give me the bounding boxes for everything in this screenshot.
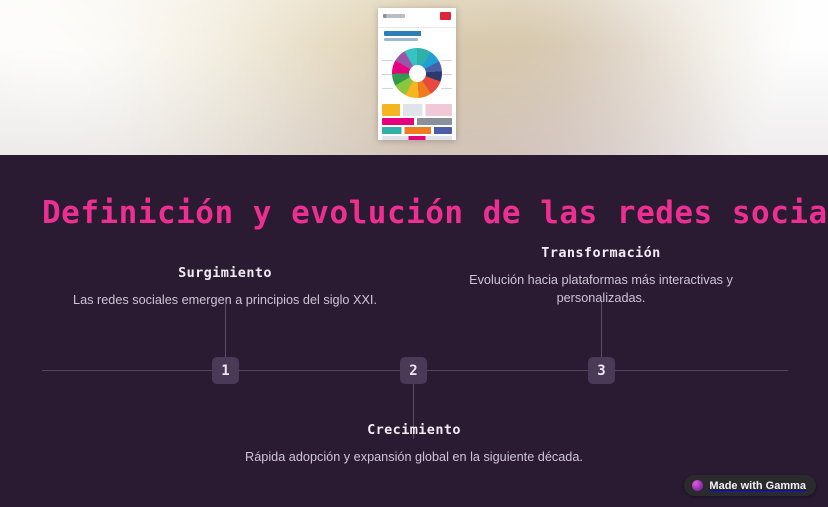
timeline-step-2-text: Crecimiento Rápida adopción y expansión … bbox=[228, 422, 600, 466]
chart-leader-line bbox=[382, 74, 392, 75]
red-badge-icon bbox=[440, 12, 451, 20]
infographic-subtitle-bar bbox=[384, 38, 418, 41]
timeline-step-3-marker[interactable]: 3 bbox=[588, 357, 615, 384]
infographic-stat-row bbox=[382, 136, 452, 140]
timeline-step-3-heading: Transformación bbox=[452, 245, 750, 261]
donut-chart-icon bbox=[392, 48, 442, 98]
page-title: Definición y evolución de las redes soci… bbox=[42, 195, 828, 231]
chart-leader-line bbox=[382, 88, 393, 89]
chart-leader-line bbox=[382, 60, 393, 61]
slide-content: Definición y evolución de las redes soci… bbox=[0, 155, 828, 507]
made-with-gamma-badge[interactable]: Made with Gamma bbox=[684, 475, 816, 496]
infographic-year-band bbox=[382, 104, 452, 116]
timeline-step-2-marker[interactable]: 2 bbox=[400, 357, 427, 384]
infographic-title-bar bbox=[384, 31, 442, 36]
infographic-stat-row bbox=[382, 118, 452, 125]
timeline-step-1-connector bbox=[225, 302, 226, 357]
infographic-stat-row bbox=[382, 127, 452, 134]
timeline-step-3-connector bbox=[601, 302, 602, 357]
timeline-step-2-body: Rápida adopción y expansión global en la… bbox=[228, 448, 600, 466]
timeline-step-1-marker[interactable]: 1 bbox=[212, 357, 239, 384]
social-media-infographic-thumbnail bbox=[378, 8, 456, 140]
timeline-step-1-heading: Surgimiento bbox=[17, 265, 433, 281]
made-with-gamma-label: Made with Gamma bbox=[709, 480, 806, 492]
chart-leader-line bbox=[442, 74, 452, 75]
gamma-logo-icon bbox=[692, 480, 703, 491]
header-image-banner bbox=[0, 0, 828, 155]
publisher-logo-icon bbox=[383, 14, 405, 18]
timeline-step-3-text: Transformación Evolución hacia plataform… bbox=[452, 245, 750, 307]
chart-leader-line bbox=[441, 88, 452, 89]
chart-leader-line bbox=[441, 60, 452, 61]
timeline-step-2-heading: Crecimiento bbox=[228, 422, 600, 438]
